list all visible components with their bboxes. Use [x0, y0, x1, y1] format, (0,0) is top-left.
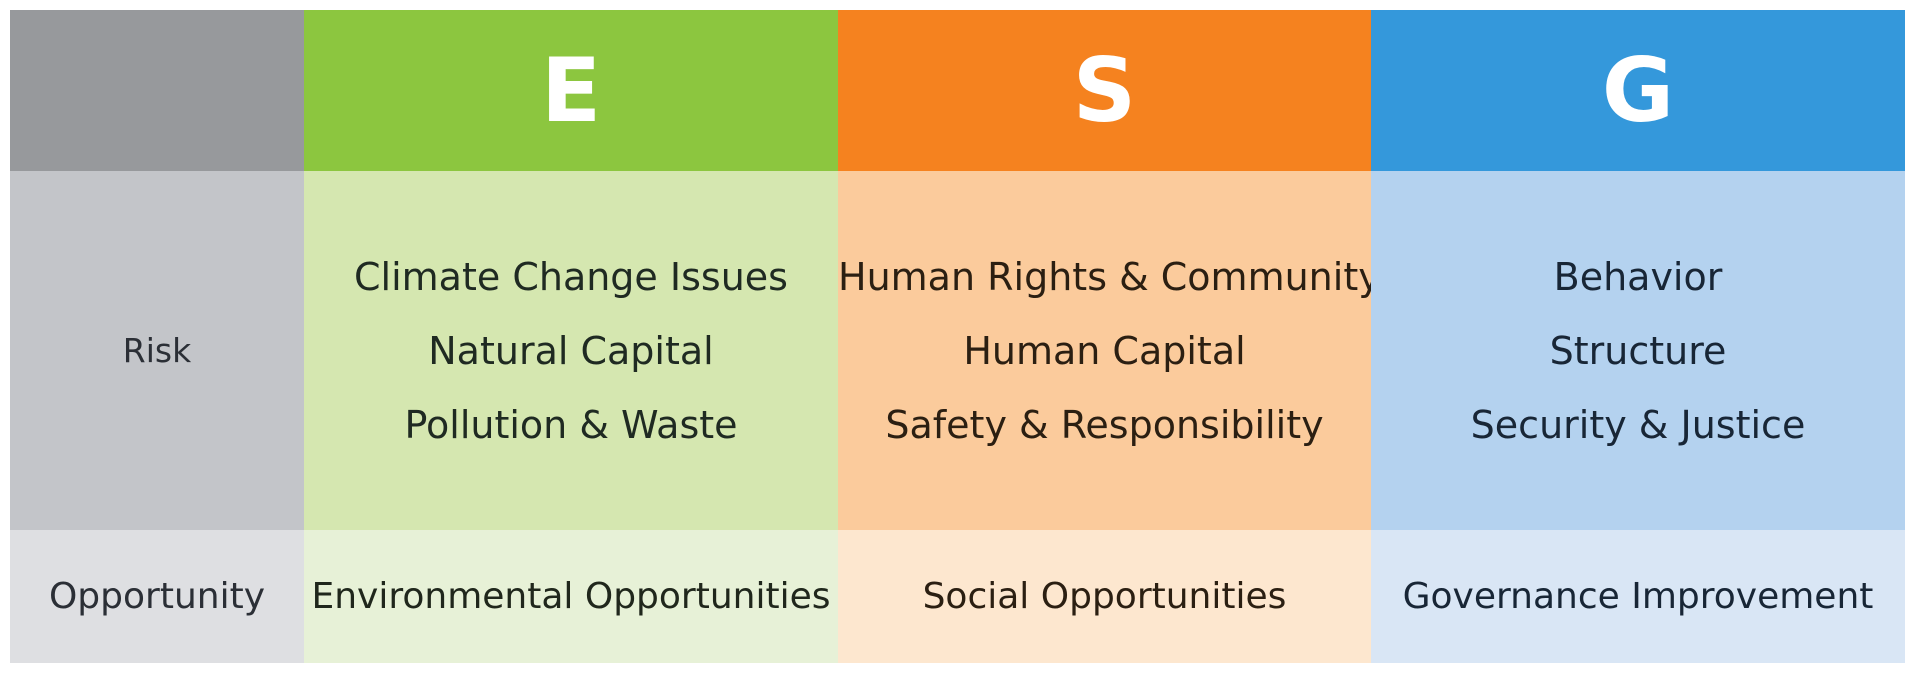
cell-opportunity-social-label: Social Opportunities	[923, 579, 1287, 615]
cell-risk-social: Human Rights & Community Human Capital S…	[838, 171, 1371, 530]
list-item: Safety & Responsibility	[838, 406, 1371, 444]
list-item: Structure	[1371, 332, 1905, 370]
cell-opportunity-environmental-label: Environmental Opportunities	[311, 579, 830, 615]
list-item: Climate Change Issues	[304, 258, 838, 296]
column-header-environmental: E	[304, 10, 838, 171]
row-header-risk: Risk	[10, 171, 304, 530]
list-item: Human Rights & Community	[838, 258, 1371, 296]
risk-social-list: Human Rights & Community Human Capital S…	[838, 258, 1371, 444]
list-item: Natural Capital	[304, 332, 838, 370]
risk-environmental-list: Climate Change Issues Natural Capital Po…	[304, 258, 838, 444]
column-header-environmental-label: E	[541, 47, 601, 135]
column-header-social-label: S	[1073, 47, 1136, 135]
row-header-opportunity-label: Opportunity	[49, 576, 265, 617]
matrix-corner-cell	[10, 10, 304, 171]
cell-risk-governance: Behavior Structure Security & Justice	[1371, 171, 1905, 530]
esg-matrix: E S G Risk Climate Change Issues Natural…	[10, 10, 1905, 663]
row-header-opportunity: Opportunity	[10, 530, 304, 663]
row-header-risk-label: Risk	[123, 331, 191, 370]
list-item: Human Capital	[838, 332, 1371, 370]
cell-opportunity-social: Social Opportunities	[838, 530, 1371, 663]
risk-governance-list: Behavior Structure Security & Justice	[1371, 258, 1905, 444]
cell-risk-environmental: Climate Change Issues Natural Capital Po…	[304, 171, 838, 530]
cell-opportunity-environmental: Environmental Opportunities	[304, 530, 838, 663]
cell-opportunity-governance: Governance Improvement	[1371, 530, 1905, 663]
column-header-governance: G	[1371, 10, 1905, 171]
list-item: Security & Justice	[1371, 406, 1905, 444]
list-item: Behavior	[1371, 258, 1905, 296]
column-header-social: S	[838, 10, 1371, 171]
list-item: Pollution & Waste	[304, 406, 838, 444]
cell-opportunity-governance-label: Governance Improvement	[1403, 579, 1874, 615]
column-header-governance-label: G	[1602, 47, 1674, 135]
